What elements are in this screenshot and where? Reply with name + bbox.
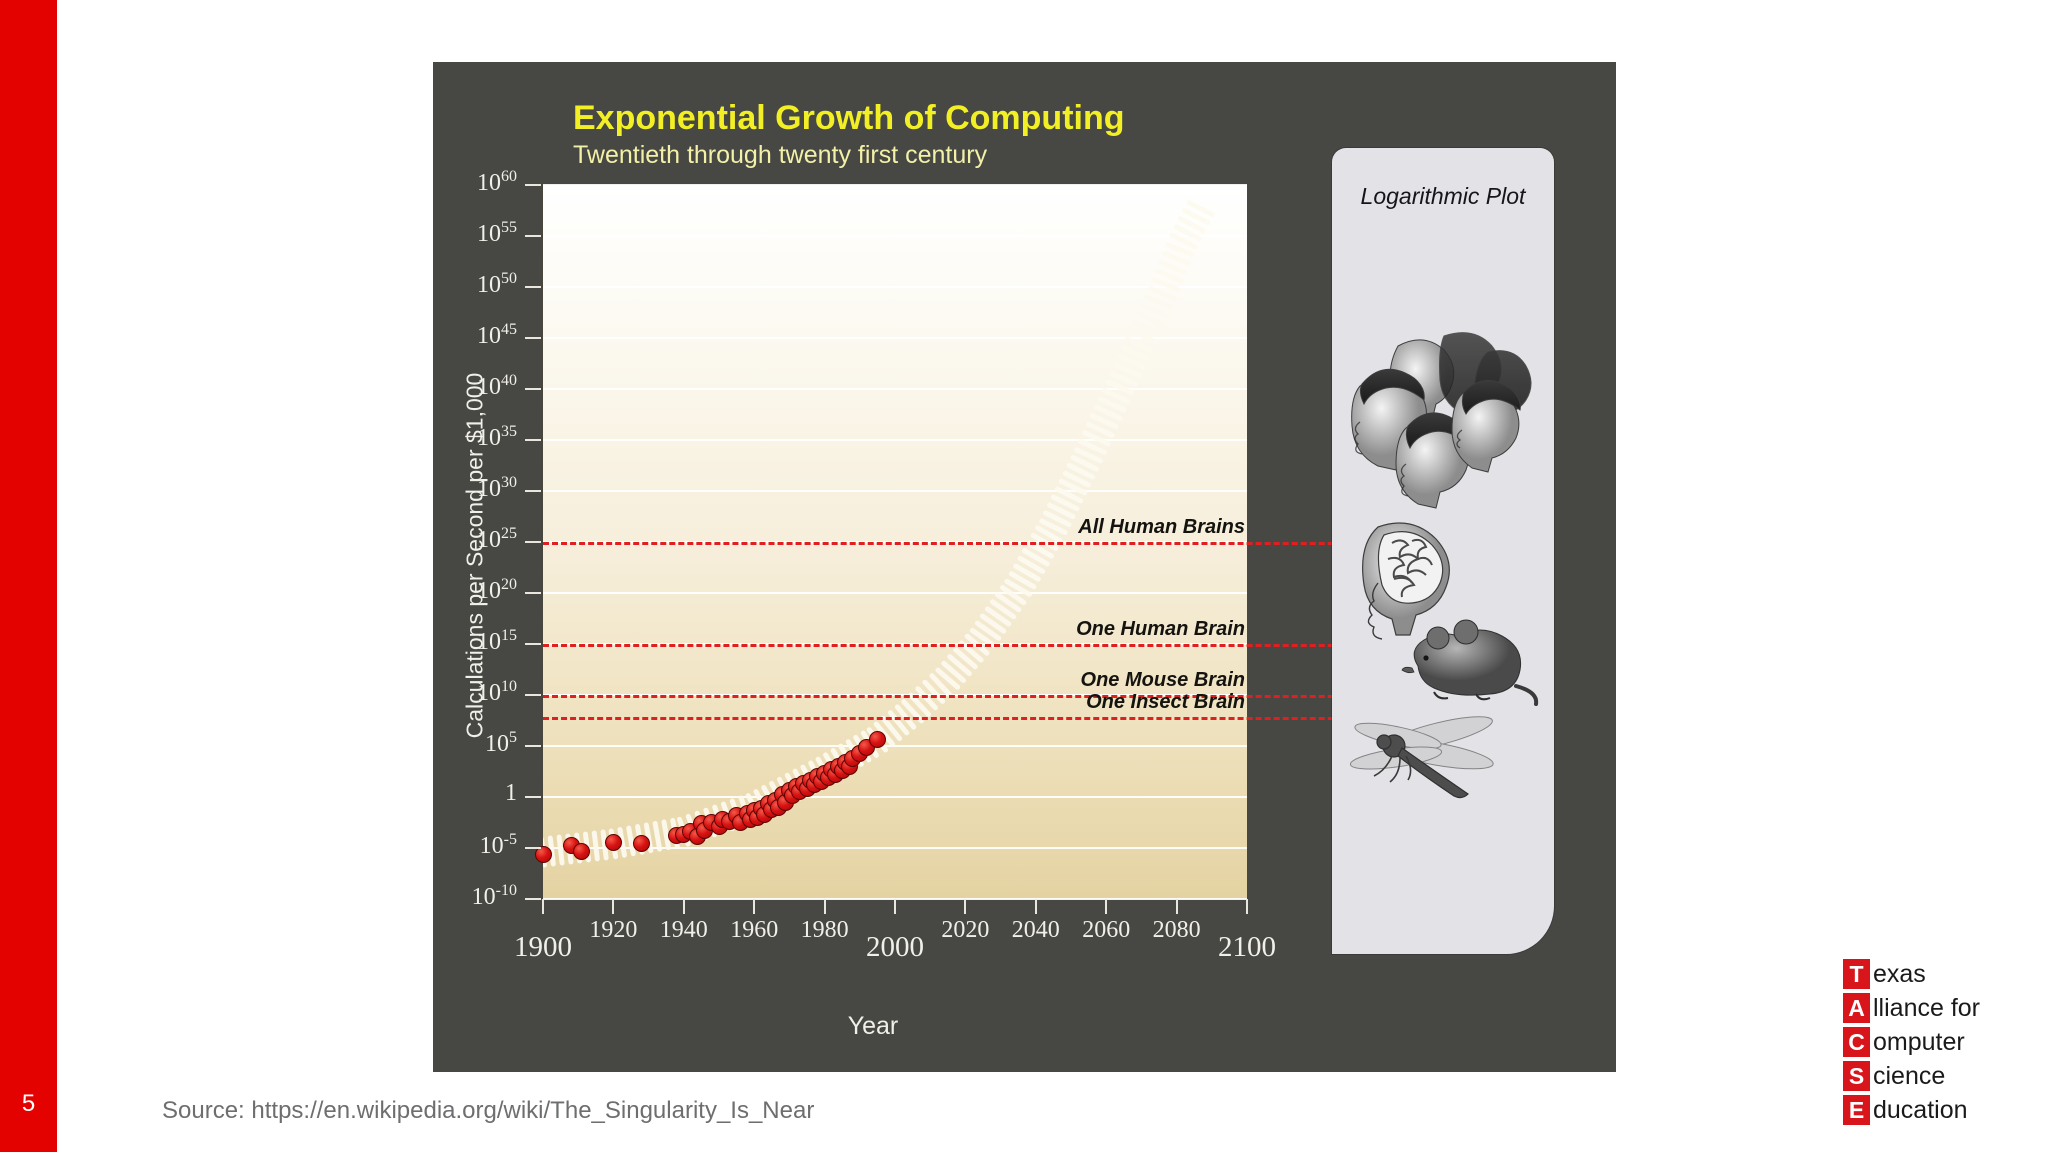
threshold-label: One Human Brain: [955, 618, 1245, 641]
trend-dash: [1120, 356, 1144, 367]
trend-dash: [1025, 551, 1048, 564]
trend-dash: [932, 676, 950, 695]
data-point: [573, 843, 590, 860]
x-axis-tick: [683, 899, 685, 914]
trend-dash: [1065, 473, 1088, 484]
y-axis-tick: [525, 592, 541, 594]
y-axis-tick: [525, 439, 541, 441]
plot-area: [543, 185, 1247, 899]
x-axis-tick: [1035, 899, 1037, 914]
y-axis-tick: [525, 898, 541, 900]
dragonfly-sketch: [1340, 700, 1526, 826]
trend-dash: [1154, 280, 1178, 290]
trend-dash: [911, 695, 929, 714]
chart-figure: Exponential Growth of Computing Twentiet…: [433, 62, 1616, 1072]
y-axis-tick: [525, 388, 541, 390]
trend-dash: [1139, 314, 1163, 325]
gridline: [543, 796, 1247, 798]
y-axis-tick-label: 1015: [433, 627, 517, 656]
y-axis-tick: [525, 337, 541, 339]
y-axis-tick: [525, 541, 541, 543]
trend-dash: [925, 682, 943, 701]
trend-dash: [1003, 588, 1024, 603]
y-axis-tick-label: 10-5: [433, 831, 517, 860]
trend-dash: [1165, 254, 1189, 264]
human-faces-sketch: [1338, 330, 1550, 520]
gridline: [543, 235, 1247, 237]
logo-word: lliance for: [1870, 993, 1980, 1023]
slide-accent-rail: [0, 0, 57, 1152]
x-axis-tick: [612, 899, 614, 914]
trend-dash: [1112, 373, 1136, 384]
chart-subtitle: Twentieth through twenty first century: [573, 141, 987, 170]
y-axis-tick-label: 1010: [433, 678, 517, 707]
trend-dash: [1185, 211, 1208, 223]
trend-dash: [1124, 348, 1148, 359]
logo-initial: C: [1843, 1027, 1870, 1057]
gridline: [543, 286, 1247, 288]
logo-row: C omputer: [1843, 1025, 1980, 1059]
trend-dash: [1016, 566, 1039, 579]
chart-title: Exponential Growth of Computing: [573, 99, 1125, 138]
trend-dash: [1158, 271, 1182, 281]
y-axis-tick: [525, 796, 541, 798]
logo-initial: E: [1843, 1095, 1870, 1125]
x-axis-tick: [753, 899, 755, 914]
y-axis-tick: [525, 286, 541, 288]
data-point: [633, 835, 650, 852]
trend-dash: [1128, 339, 1152, 350]
logo-initial: A: [1843, 993, 1870, 1023]
y-axis-tick: [525, 694, 541, 696]
logo-row: E ducation: [1843, 1093, 1980, 1127]
trend-dash: [1053, 497, 1076, 508]
trend-dash: [1176, 227, 1199, 239]
trend-dash: [1020, 558, 1043, 571]
y-axis-tick-label: 1055: [433, 219, 517, 248]
trend-dash: [998, 595, 1019, 610]
source-citation: Source: https://en.wikipedia.org/wiki/Th…: [162, 1097, 814, 1125]
trend-dash: [1181, 219, 1204, 231]
trend-dash: [1029, 543, 1052, 556]
logo-row: S cience: [1843, 1059, 1980, 1093]
trend-dash: [1096, 407, 1120, 418]
y-axis-tick: [525, 184, 541, 186]
logo-row: T exas: [1843, 957, 1980, 991]
trend-dash: [1143, 305, 1167, 316]
gridline: [543, 439, 1247, 441]
y-axis-tick-label: 1030: [433, 474, 517, 503]
y-axis-tick-label: 1035: [433, 423, 517, 452]
threshold-line: [543, 644, 1433, 647]
logo-word: exas: [1870, 959, 1926, 989]
mouse-sketch: [1390, 616, 1540, 708]
logo-initial: T: [1843, 959, 1870, 989]
y-axis-tick: [525, 235, 541, 237]
gridline: [543, 745, 1247, 747]
tacse-logo: T exas A lliance for C omputer S cience …: [1843, 957, 1980, 1127]
trend-dash: [1104, 390, 1128, 401]
y-axis-tick-label: 1: [433, 780, 517, 807]
threshold-line: [543, 542, 1433, 545]
threshold-label: One Insect Brain: [955, 691, 1245, 714]
x-axis-tick: [964, 899, 966, 914]
gridline: [543, 592, 1247, 594]
side-panel: Logarithmic Plot: [1332, 148, 1554, 954]
trend-dash: [1092, 416, 1116, 427]
logo-initial: S: [1843, 1061, 1870, 1091]
trend-dash: [1073, 457, 1096, 468]
y-axis-tick-label: 1025: [433, 525, 517, 554]
trend-dash: [956, 650, 976, 667]
trend-dash: [1011, 574, 1034, 587]
trend-dash: [1050, 505, 1073, 516]
x-axis-tick-label: 2100: [1202, 931, 1292, 964]
trend-dash: [559, 837, 562, 863]
y-axis-tick: [525, 745, 541, 747]
gridline: [543, 337, 1247, 339]
y-axis-tick: [525, 490, 541, 492]
y-axis-tick: [525, 643, 541, 645]
slide-number: 5: [0, 1090, 57, 1118]
trend-dash: [1147, 297, 1171, 307]
trend-dash: [1077, 450, 1101, 461]
trend-dash: [1116, 365, 1140, 376]
y-axis-tick: [525, 847, 541, 849]
trend-dash: [883, 718, 899, 738]
threshold-label: All Human Brains: [955, 516, 1245, 539]
gridline: [543, 388, 1247, 390]
trend-dash: [1135, 322, 1159, 333]
trend-dash: [1150, 289, 1174, 299]
logo-row: A lliance for: [1843, 991, 1980, 1025]
trend-dash: [1100, 399, 1124, 410]
trend-dash: [1069, 465, 1092, 476]
y-axis-tick-label: 1050: [433, 270, 517, 299]
threshold-line: [543, 717, 1433, 720]
y-axis-tick-label: 1045: [433, 321, 517, 350]
trend-dash: [1161, 262, 1185, 272]
logo-word: omputer: [1870, 1027, 1965, 1057]
x-axis-tick: [542, 899, 544, 914]
x-axis-tick: [1105, 899, 1107, 914]
y-axis-tick-label: 10-10: [433, 882, 517, 911]
logo-word: ducation: [1870, 1095, 1968, 1125]
x-axis-tick: [894, 899, 896, 914]
threshold-label: One Mouse Brain: [955, 669, 1245, 692]
logo-word: cience: [1870, 1061, 1945, 1091]
y-axis-tick-label: 1020: [433, 576, 517, 605]
illustration-group: [1332, 338, 1554, 938]
trend-dash: [918, 689, 936, 708]
x-axis-tick: [1176, 899, 1178, 914]
trend-dash: [1081, 441, 1105, 452]
trend-dash: [1089, 424, 1113, 435]
trend-dash: [992, 602, 1013, 617]
side-panel-title: Logarithmic Plot: [1332, 183, 1554, 210]
y-axis-tick-label: 105: [433, 729, 517, 758]
y-axis-tick-label: 1060: [433, 168, 517, 197]
trend-dash: [1189, 202, 1212, 214]
y-axis-tick-label: 1040: [433, 372, 517, 401]
trend-dash: [890, 713, 906, 733]
trend-dash: [594, 833, 597, 859]
x-axis-tick: [1246, 899, 1248, 914]
trend-dash: [1168, 245, 1192, 255]
gridline: [543, 184, 1247, 186]
trend-dash: [655, 823, 659, 849]
gridline: [543, 490, 1247, 492]
x-axis-title: Year: [433, 1012, 1313, 1041]
x-axis-tick: [824, 899, 826, 914]
